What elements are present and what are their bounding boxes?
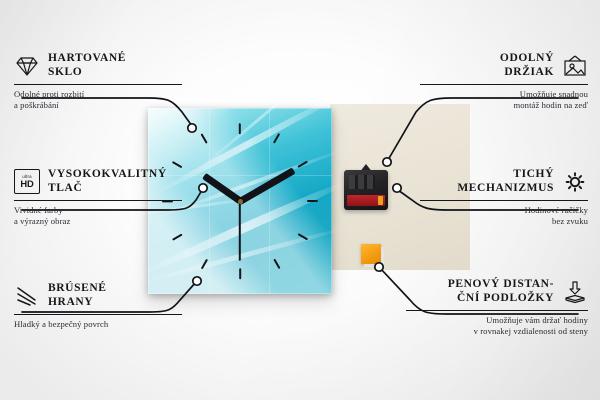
connector-endpoint-polished-edges bbox=[193, 277, 201, 285]
diagonal-lines-icon bbox=[14, 284, 40, 308]
connector-endpoint-high-quality-print bbox=[199, 184, 207, 192]
connector-endpoint-hardened-glass bbox=[188, 124, 196, 132]
feature-high-quality-print: ultra HD VYSOKOKVALITNÝTLAČ Vividné farb… bbox=[14, 168, 182, 227]
feature-divider bbox=[406, 310, 588, 311]
feature-foam-spacers: PENOVÝ DISTAN-ČNÍ PODLOŽKY Umožňuje vám … bbox=[406, 278, 588, 337]
feature-header: BRÚSENÉHRANY bbox=[14, 282, 182, 309]
feature-title: VYSOKOKVALITNÝTLAČ bbox=[48, 168, 167, 195]
feature-title: HARTOVANÉSKLO bbox=[48, 52, 126, 79]
feature-header: ultra HD VYSOKOKVALITNÝTLAČ bbox=[14, 168, 182, 195]
feature-divider bbox=[420, 84, 588, 85]
connector-endpoint-durable-hanger bbox=[383, 158, 391, 166]
feature-divider bbox=[14, 314, 182, 315]
picture-frame-hanger-icon bbox=[562, 54, 588, 78]
feature-title: PENOVÝ DISTAN-ČNÍ PODLOŽKY bbox=[448, 278, 554, 305]
feature-title: BRÚSENÉHRANY bbox=[48, 282, 107, 309]
feature-header: TICHÝMECHANIZMUS bbox=[420, 168, 588, 195]
feature-divider bbox=[14, 84, 182, 85]
feature-header: HARTOVANÉSKLO bbox=[14, 52, 182, 79]
feature-hardened-glass: HARTOVANÉSKLO Odolné proti rozbitía pošk… bbox=[14, 52, 182, 111]
arrow-into-layers-icon bbox=[562, 280, 588, 304]
feature-durable-hanger: ODOLNÝDRŽIAK Umožňuje snadnoumontáž hodi… bbox=[420, 52, 588, 111]
feature-subtitle: Odolné proti rozbitía poškrábání bbox=[14, 89, 182, 111]
feature-divider bbox=[420, 200, 588, 201]
connector-endpoint-foam-spacers bbox=[375, 263, 383, 271]
feature-subtitle: Umožňuje vám držať hodinyv rovnakej vzdi… bbox=[406, 315, 588, 337]
feature-title: TICHÝMECHANIZMUS bbox=[457, 168, 554, 195]
hd-label: HD bbox=[20, 179, 33, 189]
feature-silent-mechanism: TICHÝMECHANIZMUS Hodinové ručičkybez zvu… bbox=[420, 168, 588, 227]
gear-icon bbox=[562, 170, 588, 194]
feature-title: ODOLNÝDRŽIAK bbox=[500, 52, 554, 79]
feature-polished-edges: BRÚSENÉHRANY Hladký a bezpečný povrch bbox=[14, 282, 182, 330]
connector-endpoint-silent-mechanism bbox=[393, 184, 401, 192]
feature-subtitle: Hodinové ručičkybez zvuku bbox=[420, 205, 588, 227]
feature-divider bbox=[14, 200, 182, 201]
feature-subtitle: Umožňuje snadnoumontáž hodin na zeď bbox=[420, 89, 588, 111]
infographic-canvas: HARTOVANÉSKLO Odolné proti rozbitía pošk… bbox=[0, 0, 600, 400]
feature-subtitle: Hladký a bezpečný povrch bbox=[14, 319, 182, 330]
feature-header: PENOVÝ DISTAN-ČNÍ PODLOŽKY bbox=[406, 278, 588, 305]
feature-header: ODOLNÝDRŽIAK bbox=[420, 52, 588, 79]
diamond-icon bbox=[14, 54, 40, 78]
ultra-hd-badge-icon: ultra HD bbox=[14, 169, 40, 194]
feature-subtitle: Vividné farbya výrazný obraz bbox=[14, 205, 182, 227]
